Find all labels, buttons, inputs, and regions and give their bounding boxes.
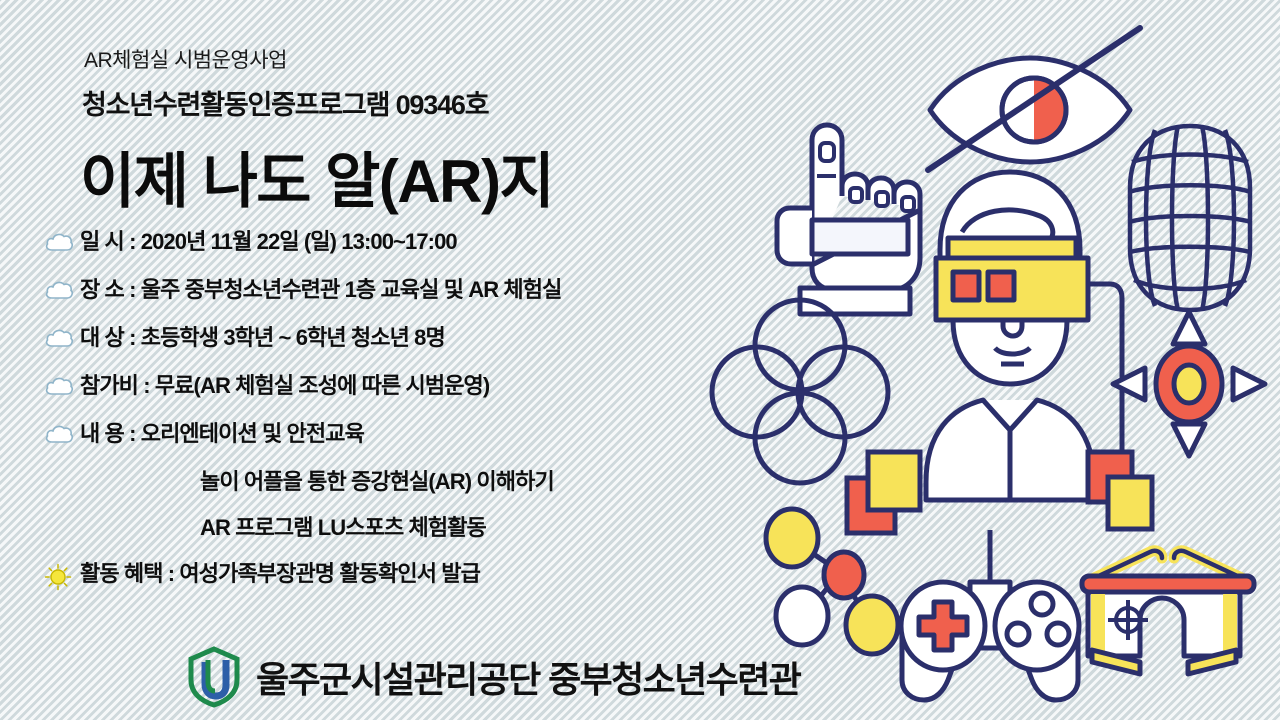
cloud-icon <box>44 423 74 445</box>
eye-slash-icon <box>928 28 1140 170</box>
cloud-icon <box>44 231 74 253</box>
info-row-text: 대 상 : 초등학생 3학년 ~ 6학년 청소년 8명 <box>80 324 445 352</box>
bullet-slot <box>44 514 80 517</box>
bullet-slot <box>44 420 80 445</box>
directional-pad-icon <box>1113 312 1265 456</box>
bullet-slot <box>44 468 80 471</box>
info-row: 대 상 : 초등학생 3학년 ~ 6학년 청소년 8명 <box>44 324 704 354</box>
cloud-icon <box>44 375 74 397</box>
info-row: 장 소 : 울주 중부청소년수련관 1층 교육실 및 AR 체험실 <box>44 276 704 306</box>
poster-subtitle: 청소년수련활동인증프로그램 09346호 <box>82 83 488 122</box>
info-row-text: 참가비 : 무료(AR 체험실 조성에 따른 시범운영) <box>80 372 489 400</box>
info-row: AR 프로그램 LU스포츠 체험활동 <box>44 514 704 544</box>
bullet-slot <box>44 560 80 591</box>
info-row: 활동 혜택 : 여성가족부장관명 활동확인서 발급 <box>44 560 704 591</box>
cloud-icon <box>44 327 74 349</box>
ar-program-poster: AR체험실 시범운영사업 청소년수련활동인증프로그램 09346호 이제 나도 … <box>0 0 1280 720</box>
info-row-text: 내 용 : 오리엔테이션 및 안전교육 <box>80 420 364 448</box>
bullet-slot <box>44 228 80 253</box>
info-row-text: 일 시 : 2020년 11월 22일 (일) 13:00~17:00 <box>80 228 457 256</box>
info-row-text: 활동 혜택 : 여성가족부장관명 활동확인서 발급 <box>80 560 480 588</box>
pointing-hand-glove-icon <box>777 125 920 314</box>
info-row-text: 장 소 : 울주 중부청소년수련관 1층 교육실 및 AR 체험실 <box>80 276 561 304</box>
info-row-text: 놀이 어플을 통한 증강현실(AR) 이해하기 <box>80 468 554 496</box>
wireframe-sphere-icon <box>1129 126 1251 310</box>
info-row-text: AR 프로그램 LU스포츠 체험활동 <box>80 514 486 542</box>
info-row: 내 용 : 오리엔테이션 및 안전교육 <box>44 420 704 450</box>
red-yellow-squares-right-icon <box>1088 452 1152 529</box>
info-row: 일 시 : 2020년 11월 22일 (일) 13:00~17:00 <box>44 228 704 258</box>
info-list: 일 시 : 2020년 11월 22일 (일) 13:00~17:00 장 소 … <box>44 228 704 609</box>
bullet-slot <box>44 372 80 397</box>
red-yellow-squares-left-icon <box>847 452 920 533</box>
bullet-slot <box>44 324 80 349</box>
info-row: 놀이 어플을 통한 증강현실(AR) 이해하기 <box>44 468 704 498</box>
cloud-icon <box>44 279 74 301</box>
overlapping-circles-icon <box>712 300 888 483</box>
bullet-slot <box>44 276 80 301</box>
poster-kicker: AR체험실 시범운영사업 <box>84 44 287 74</box>
sun-icon <box>44 563 72 591</box>
gamepad-icon <box>901 530 1079 700</box>
info-row: 참가비 : 무료(AR 체험실 조성에 따른 시범운영) <box>44 372 704 402</box>
illustration-group <box>700 0 1280 720</box>
ar-glasses-icon <box>1082 551 1254 674</box>
page-title: 이제 나도 알(AR)지 <box>80 133 553 220</box>
ulju-logo-icon <box>186 646 242 708</box>
